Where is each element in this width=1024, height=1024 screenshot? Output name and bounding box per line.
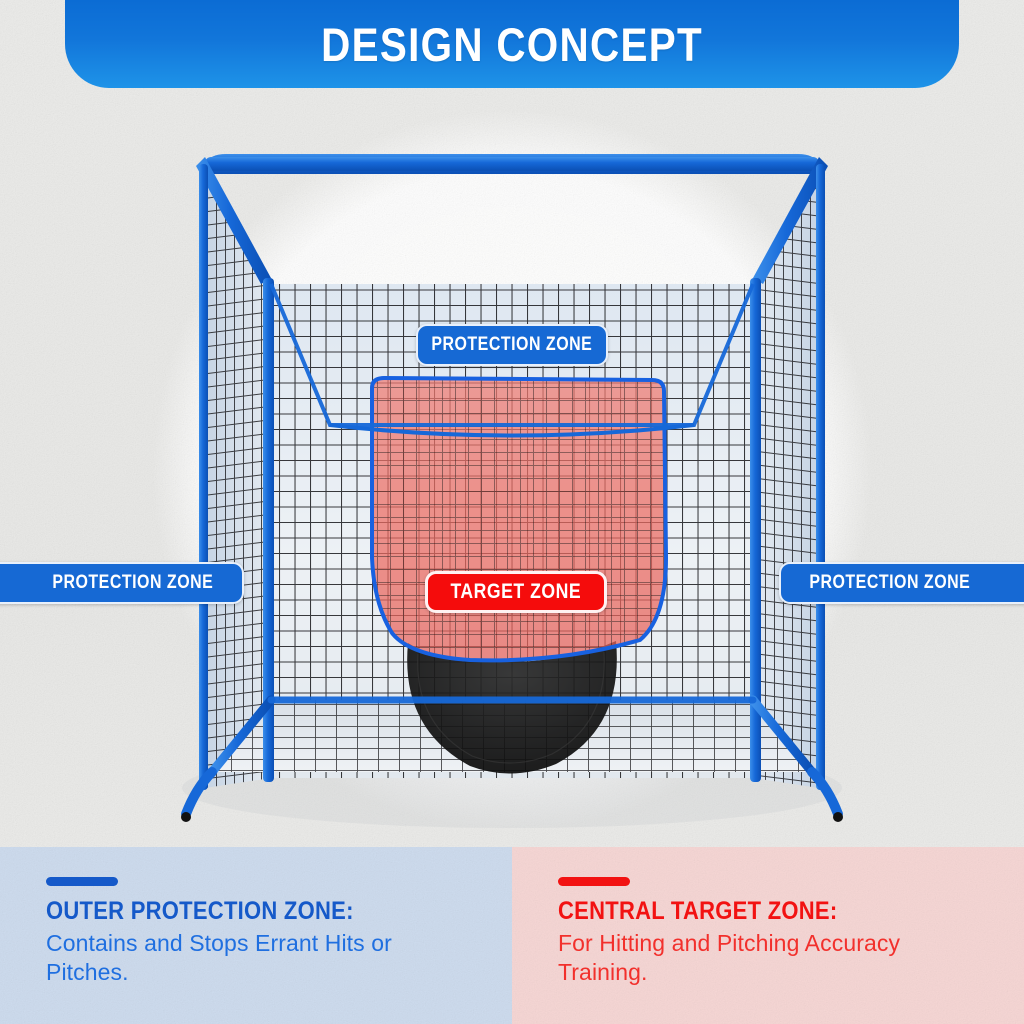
baseball-net-illustration <box>0 88 1024 847</box>
product-image: PROTECTION ZONE PROTECTION ZONE PROTECTI… <box>0 88 1024 847</box>
info-panel-body: Contains and Stops Errant Hits or Pitche… <box>46 929 478 987</box>
info-panel-body: For Hitting and Pitching Accuracy Traini… <box>558 929 990 987</box>
info-panel-outer-protection-zone: OUTER PROTECTION ZONE: Contains and Stop… <box>0 847 512 1024</box>
info-panel-heading: OUTER PROTECTION ZONE: <box>46 897 426 926</box>
accent-bar <box>558 877 630 886</box>
callout-protection-zone-left[interactable]: PROTECTION ZONE <box>0 562 244 604</box>
target-zone-overlay <box>365 373 675 673</box>
callout-label: PROTECTION ZONE <box>432 334 593 356</box>
callout-label: TARGET ZONE <box>451 580 582 604</box>
callout-protection-zone-right[interactable]: PROTECTION ZONE <box>779 562 1024 604</box>
accent-bar <box>46 877 118 886</box>
header-banner: DESIGN CONCEPT <box>65 0 959 88</box>
info-panel-central-target-zone: CENTRAL TARGET ZONE: For Hitting and Pit… <box>512 847 1024 1024</box>
callout-label: PROTECTION ZONE <box>809 572 970 594</box>
callout-target-zone[interactable]: TARGET ZONE <box>425 571 607 613</box>
callout-protection-zone-top[interactable]: PROTECTION ZONE <box>416 324 608 366</box>
page-title: DESIGN CONCEPT <box>321 17 703 72</box>
info-panel-heading: CENTRAL TARGET ZONE: <box>558 897 938 926</box>
info-panels-row: OUTER PROTECTION ZONE: Contains and Stop… <box>0 847 1024 1024</box>
callout-label: PROTECTION ZONE <box>53 572 214 594</box>
